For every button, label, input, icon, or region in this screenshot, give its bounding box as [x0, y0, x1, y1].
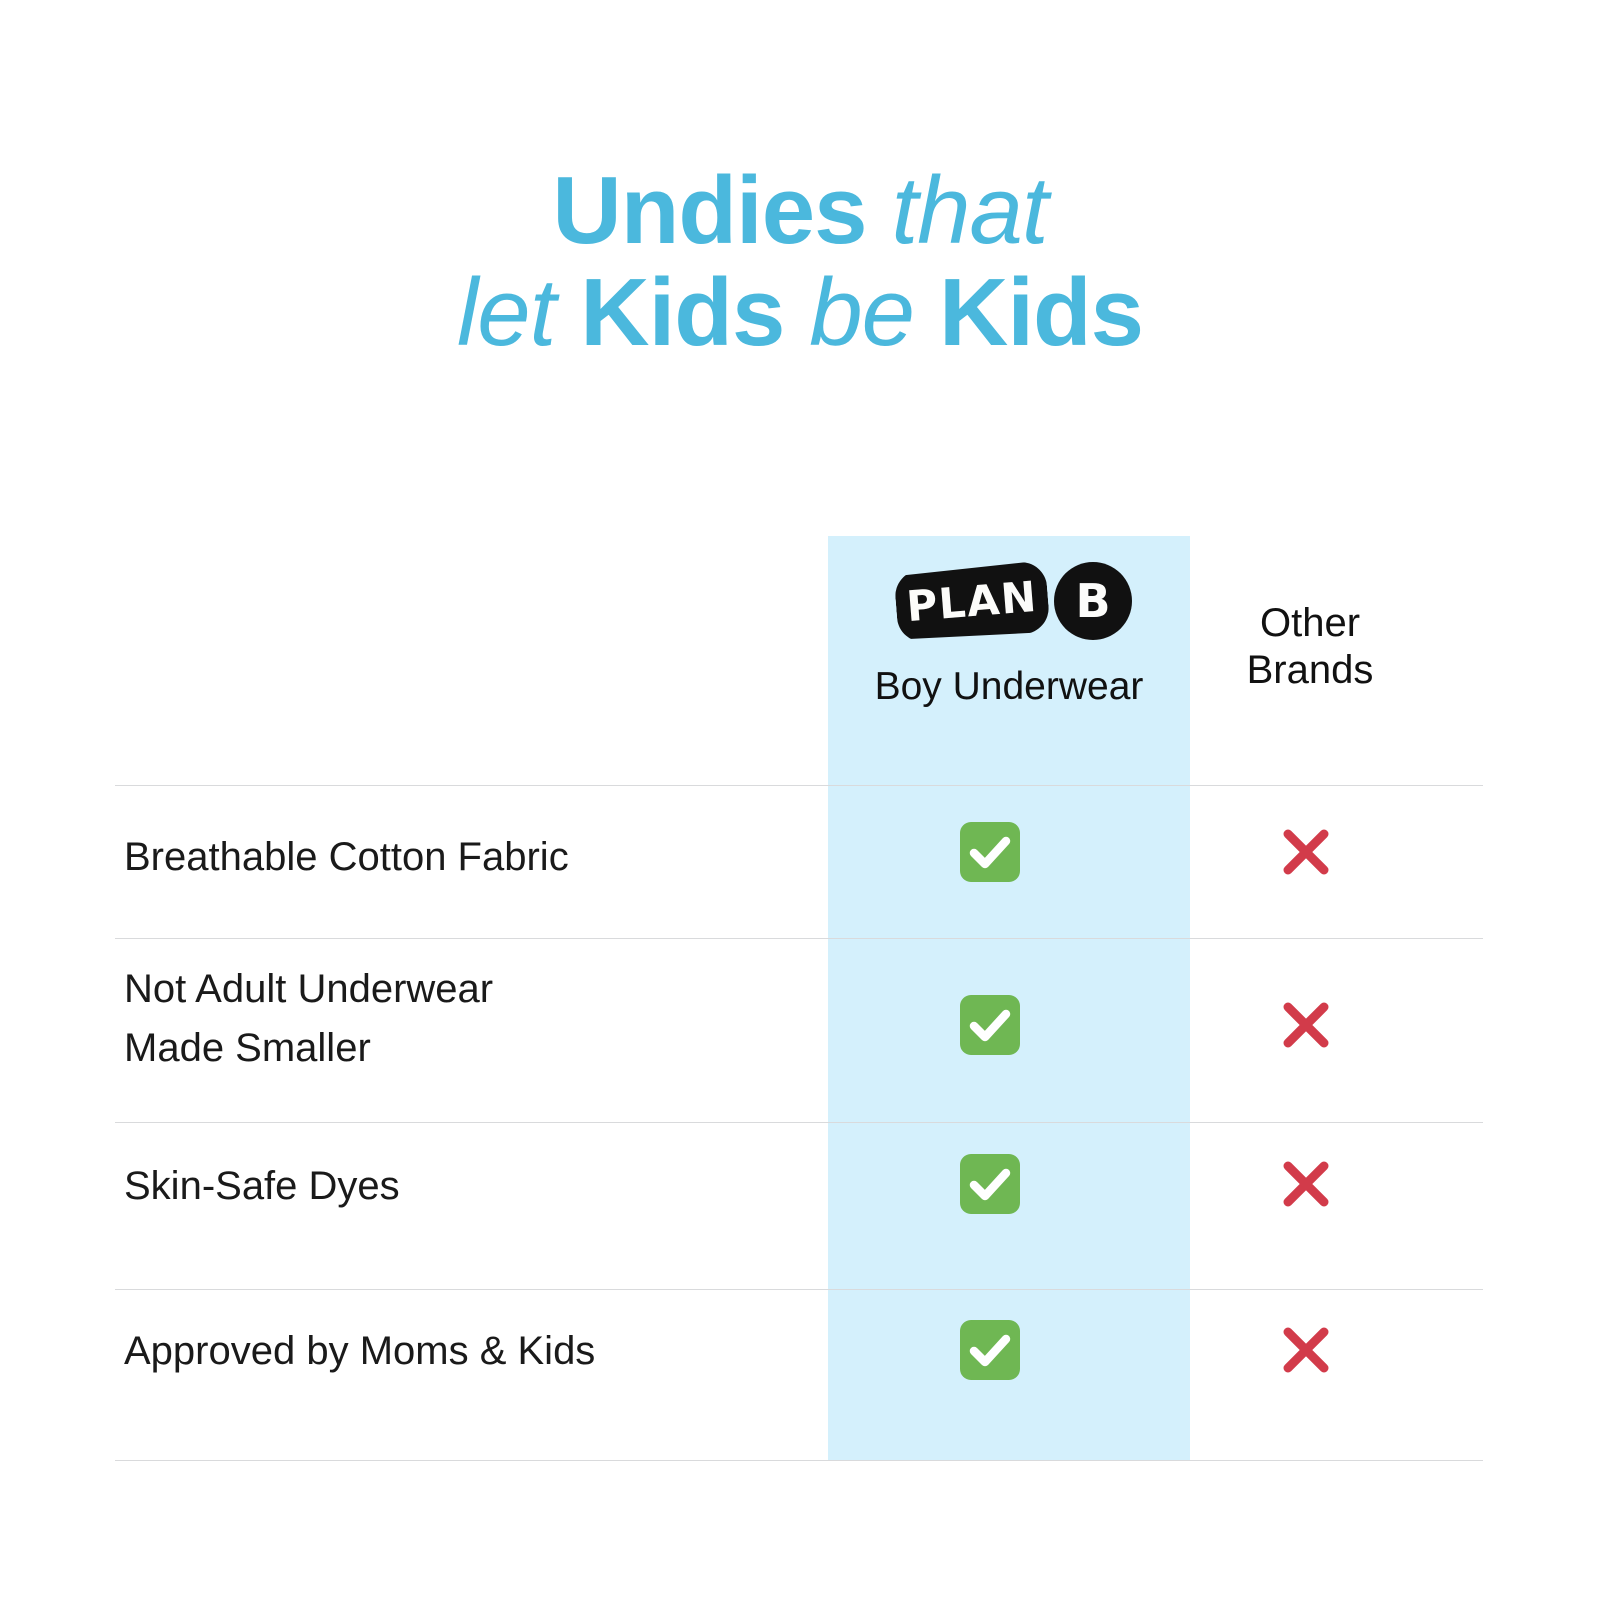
cross-icon: [1266, 985, 1346, 1065]
feature-label-2-line-1: Not Adult Underwear: [124, 967, 493, 1011]
logo-badge-text: PLAN: [893, 560, 1050, 644]
table-row: Breathable Cotton Fabric: [124, 828, 784, 887]
column-header-other-brands: Other Brands: [1190, 600, 1430, 694]
check-icon: [950, 812, 1030, 892]
check-icon: [950, 985, 1030, 1065]
column-header-other-line-2: Brands: [1190, 647, 1430, 694]
check-icon: [950, 1310, 1030, 1390]
feature-label-4: Approved by Moms & Kids: [124, 1329, 595, 1373]
row-divider-header: [115, 785, 1483, 786]
plan-b-logo: PLAN B: [896, 560, 1122, 646]
feature-label-1: Breathable Cotton Fabric: [124, 835, 569, 879]
row-divider-2: [115, 1122, 1483, 1123]
column-header-plan-b-label: Boy Underwear: [828, 664, 1190, 710]
comparison-table: PLAN B Boy Underwear Other Brands Breath…: [0, 0, 1600, 1600]
table-row: Not Adult Underwear Made Smaller: [124, 960, 784, 1078]
cross-icon: [1266, 812, 1346, 892]
cross-icon: [1266, 1310, 1346, 1390]
check-icon: [950, 1144, 1030, 1224]
row-divider-3: [115, 1289, 1483, 1290]
row-divider-4: [115, 1460, 1483, 1461]
feature-label-3: Skin-Safe Dyes: [124, 1164, 400, 1208]
cross-icon: [1266, 1144, 1346, 1224]
feature-label-2-line-2: Made Smaller: [124, 1026, 371, 1070]
column-header-plan-b: PLAN B Boy Underwear: [828, 560, 1190, 710]
logo-circle-text: B: [1054, 562, 1132, 640]
table-row: Approved by Moms & Kids: [124, 1322, 784, 1381]
column-header-other-line-1: Other: [1190, 600, 1430, 647]
table-row: Skin-Safe Dyes: [124, 1157, 784, 1216]
row-divider-1: [115, 938, 1483, 939]
